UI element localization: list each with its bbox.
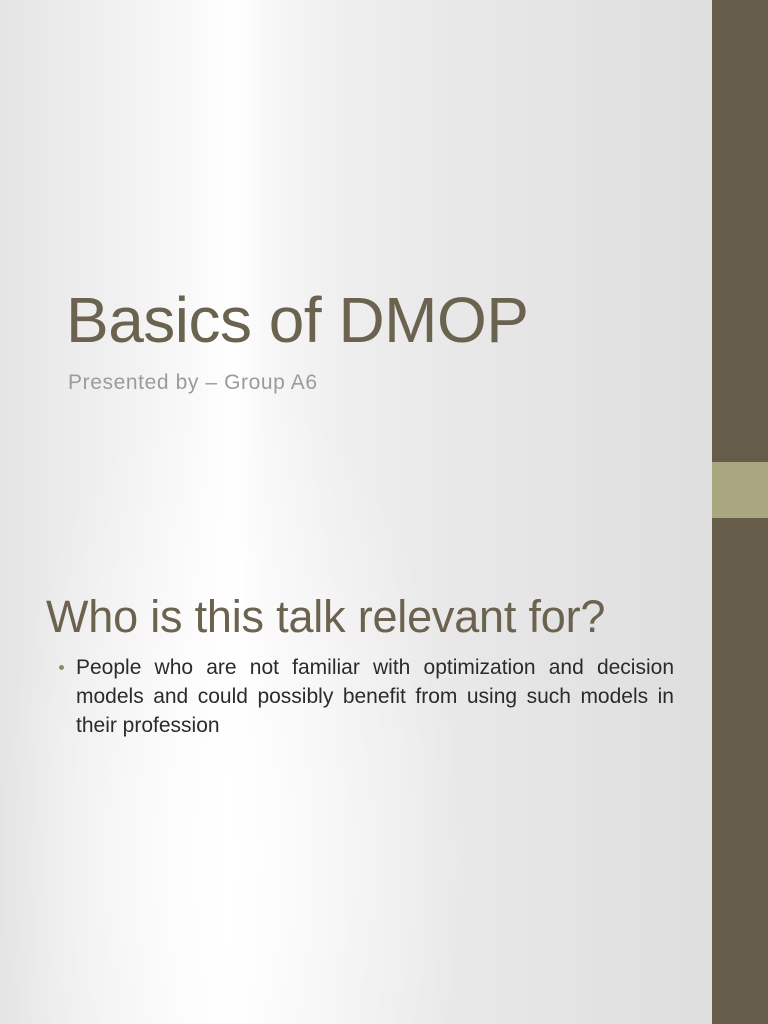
content-block: Who is this talk relevant for? People wh…	[46, 588, 674, 741]
slide-title: Basics of DMOP	[66, 288, 666, 353]
content-heading: Who is this talk relevant for?	[46, 588, 674, 646]
bullet-dot-icon	[59, 665, 64, 670]
slide-right-sidebar	[712, 0, 768, 1024]
list-item: People who are not familiar with optimiz…	[46, 654, 674, 741]
slide-subtitle: Presented by – Group A6	[68, 371, 666, 395]
presentation-slide: Basics of DMOP Presented by – Group A6 W…	[0, 0, 768, 1024]
bullet-list: People who are not familiar with optimiz…	[46, 654, 674, 741]
sidebar-accent-band	[712, 462, 768, 518]
title-block: Basics of DMOP Presented by – Group A6	[66, 288, 666, 395]
slide-background-gradient	[0, 0, 768, 1024]
list-item-text: People who are not familiar with optimiz…	[76, 656, 674, 737]
